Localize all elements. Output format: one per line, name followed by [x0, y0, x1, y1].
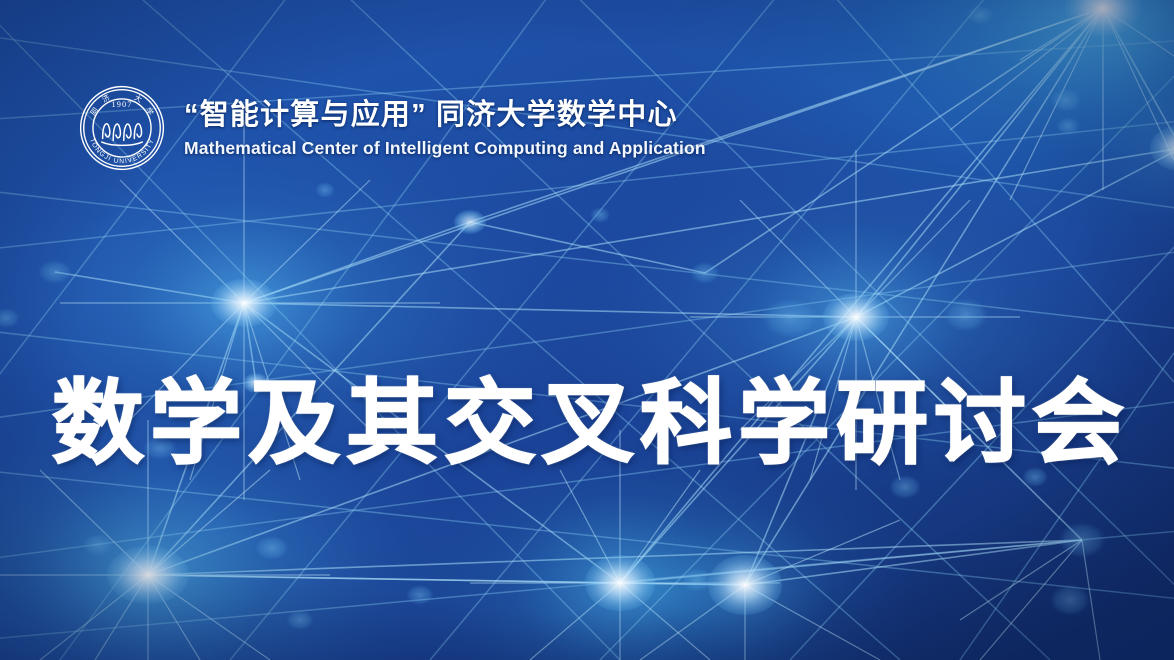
- svg-text:大: 大: [133, 92, 145, 105]
- svg-text:1907: 1907: [112, 100, 133, 109]
- organization-name-cn: “智能计算与应用” 同济大学数学中心: [184, 99, 706, 131]
- conference-poster: 1907 同 济 大 学 TONGJI UNIVERSITY: [0, 0, 1174, 660]
- header-text-block: “智能计算与应用” 同济大学数学中心 Mathematical Center o…: [184, 97, 706, 159]
- tongji-university-seal-icon: 1907 同 济 大 学 TONGJI UNIVERSITY: [78, 84, 166, 172]
- svg-text:济: 济: [100, 92, 112, 105]
- header: 1907 同 济 大 学 TONGJI UNIVERSITY: [78, 84, 706, 172]
- organization-name-en: Mathematical Center of Intelligent Compu…: [184, 138, 706, 159]
- page-title: 数学及其交叉科学研讨会: [0, 378, 1174, 470]
